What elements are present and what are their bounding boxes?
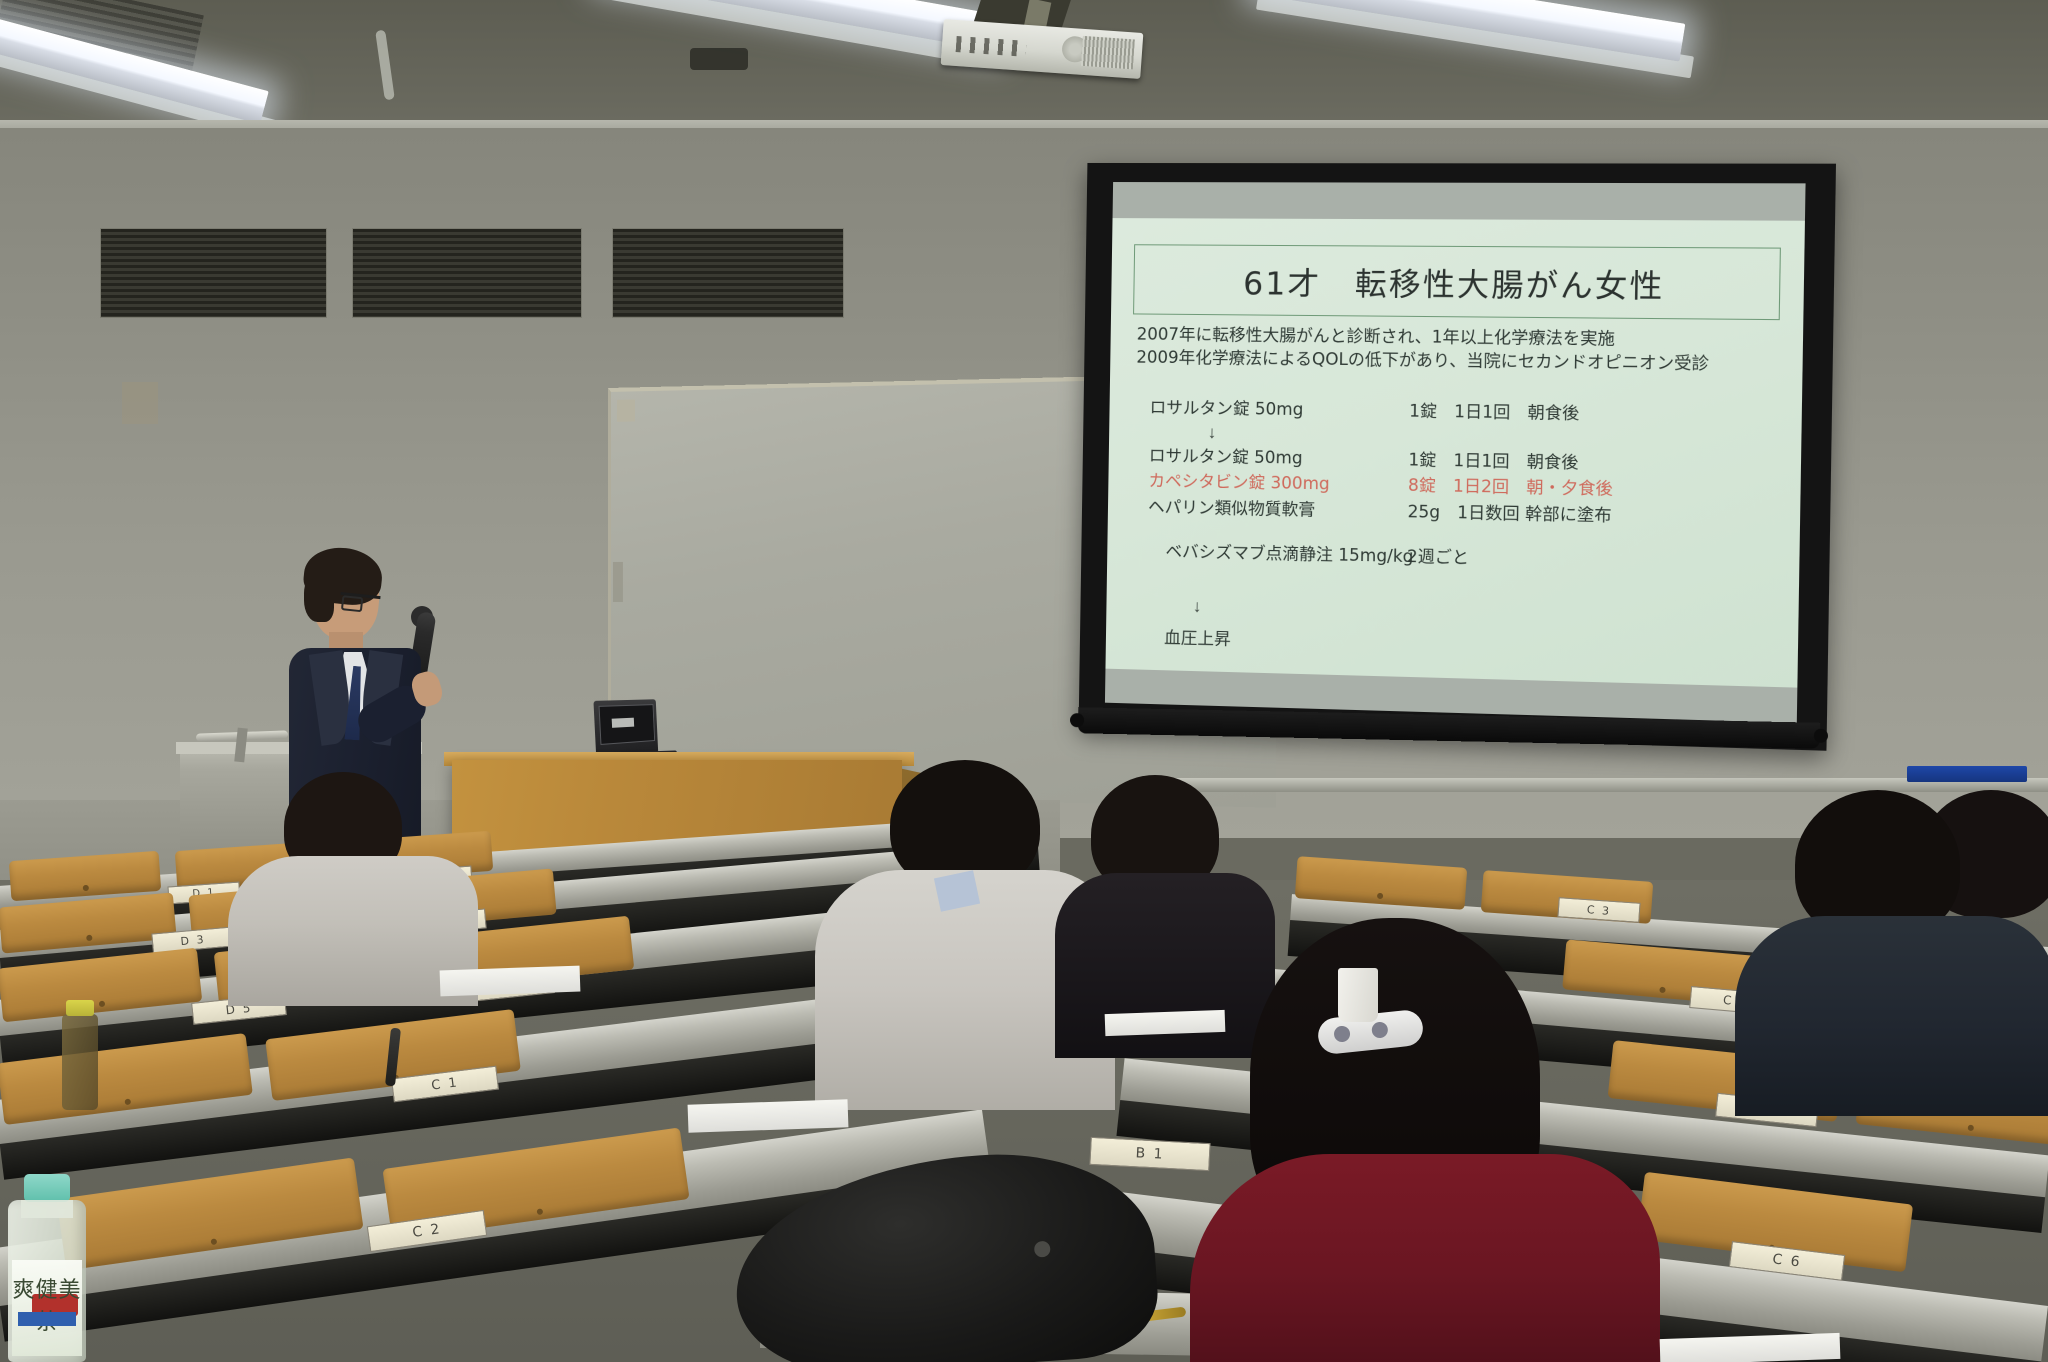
ceiling-hook (375, 30, 395, 101)
laptop-label (612, 718, 635, 728)
attendee-gray-sweater-left (228, 772, 478, 992)
infusion-drug: ベバシズマブ点滴静注 15mg/kg (1165, 538, 1407, 567)
wall-vent-3 (612, 228, 844, 318)
rx-before-dose-1: 1錠 1日1回 朝食後 (1409, 398, 1580, 426)
small-bottle (62, 1014, 98, 1110)
infusion-row: ベバシズマブ点滴静注 15mg/kg 2週ごと (1165, 538, 1784, 576)
handout-paper-1 (440, 966, 581, 997)
outcome-text: 血圧上昇 (1164, 624, 1231, 650)
rx-after-dose-2: 8錠 1日2回 朝・夕食後 (1408, 473, 1613, 503)
infusion-dose: 2週ごと (1407, 543, 1469, 569)
laptop-icon (593, 699, 658, 759)
blue-folder (1907, 766, 2027, 782)
wall-vent-2 (352, 228, 582, 318)
projection-screen: 61才 転移性大腸がん女性 2007年に転移性大腸がんと診断され、1年以上化学療… (1079, 163, 1836, 751)
slide-title: 61才 転移性大腸がん女性 (1243, 257, 1665, 306)
paper-cup (1338, 968, 1378, 1022)
tea-bottle: 爽健美茶 (8, 1200, 86, 1362)
tea-bottle-brand: 爽健美茶 (12, 1272, 82, 1336)
slide-description: 2007年に転移性大腸がんと診断され、1年以上化学療法を実施 2009年化学療法… (1136, 322, 1786, 377)
slide-content: 61才 転移性大腸がん女性 2007年に転移性大腸がんと診断され、1年以上化学療… (1105, 218, 1804, 688)
letterbox-band-top (1113, 182, 1806, 221)
attendee-navy-right (1735, 790, 2048, 1110)
prescription-block: ロサルタン錠 50mg 1錠 1日1回 朝食後 ↓ ロサルタン錠 50mg 1錠… (1148, 395, 1787, 532)
tea-bottle-neck (21, 1200, 73, 1218)
rx-before-drug-1: ロサルタン錠 50mg (1149, 395, 1409, 424)
slide-title-box: 61才 転移性大腸がん女性 (1133, 244, 1781, 320)
attendee-body (1735, 916, 2048, 1116)
rx-after-dose-3: 25g 1日数回 幹部に塗布 (1407, 499, 1611, 529)
wall-vent-1 (100, 228, 327, 318)
attendee-body (1190, 1154, 1660, 1362)
presenter-hair-side (304, 574, 334, 622)
outcome-arrow: ↓ (1193, 597, 1202, 617)
rx-after-drug-3: ヘパリン類似物質軟膏 (1148, 494, 1408, 525)
tea-bottle-label: 爽健美茶 (12, 1260, 82, 1356)
glasses-icon (339, 592, 380, 609)
handout-paper-2 (688, 1099, 849, 1133)
attendee-maroon-sweater (1190, 918, 1670, 1362)
screen-surface: 61才 転移性大腸がん女性 2007年に転移性大腸がんと診断され、1年以上化学療… (1105, 182, 1806, 723)
small-bottle-cap (66, 1000, 94, 1016)
whiteboard-hinge (613, 562, 623, 602)
projector-ports (956, 36, 1027, 57)
handout-paper-3 (1105, 1010, 1226, 1036)
rx-after-dose-1: 1錠 1日1回 朝食後 (1408, 447, 1579, 476)
tea-bottle-cap (24, 1174, 70, 1202)
coat-button-icon (1034, 1241, 1051, 1258)
lecture-hall-photo: 61才 転移性大腸がん女性 2007年に転移性大腸がんと診断され、1年以上化学療… (0, 0, 2048, 1362)
wall-plate (122, 382, 158, 424)
tea-bottle-label-band (18, 1312, 76, 1326)
whiteboard-clip-icon (617, 399, 635, 421)
ceiling-speaker-icon (690, 48, 748, 70)
projector-vents (1081, 36, 1135, 70)
handout-paper-4 (1660, 1333, 1841, 1362)
